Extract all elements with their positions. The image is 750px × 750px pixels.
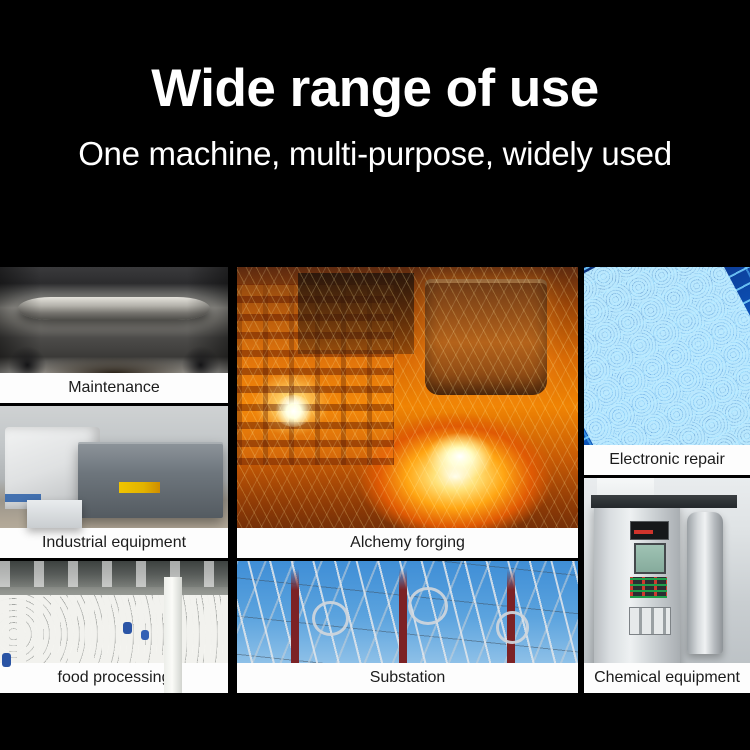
use-case-gallery: Maintenance Industrial equipment food pr…: [0, 267, 750, 693]
page-subtitle: One machine, multi-purpose, widely used: [78, 134, 672, 174]
substation-photo-detail-insulator-ring-1: [312, 601, 349, 636]
tile-caption-electronic-repair: Electronic repair: [584, 445, 750, 475]
food-photo-detail-worker-blue-1: [123, 622, 132, 634]
chemical-photo-detail-button-grid: [629, 607, 671, 635]
gallery-tile-substation[interactable]: Substation: [237, 561, 578, 693]
chemical-photo-detail-top-rail: [591, 495, 737, 508]
industrial-photo-detail-machine: [27, 500, 82, 527]
industrial-photo-detail-yellow-panel: [119, 482, 160, 493]
gallery-tile-industrial-equipment[interactable]: Industrial equipment: [0, 406, 228, 558]
food-photo-detail-worker-blue-2: [141, 630, 149, 641]
tile-caption-chemical-equipment: Chemical equipment: [584, 663, 750, 693]
chemical-photo-detail-meter: [630, 521, 669, 540]
food-photo-detail-column: [164, 577, 182, 693]
chemical-photo-detail-tank: [687, 512, 724, 654]
substation-photo-detail-insulator-ring-2: [408, 587, 448, 625]
alchemy-forging-photo: [237, 267, 578, 558]
gallery-tile-food-processing[interactable]: food processing: [0, 561, 228, 693]
electronic-repair-photo: [584, 267, 750, 475]
header-banner: Wide range of use One machine, multi-pur…: [0, 0, 750, 267]
food-photo-detail-worker-blue-3: [2, 653, 11, 666]
tile-caption-industrial-equipment: Industrial equipment: [0, 528, 228, 558]
chemical-photo-detail-screen: [634, 543, 666, 575]
tile-caption-substation: Substation: [237, 663, 578, 693]
gallery-tile-maintenance[interactable]: Maintenance: [0, 267, 228, 403]
forging-photo-detail-upper-structure: [298, 273, 414, 354]
gallery-tile-electronic-repair[interactable]: Electronic repair: [584, 267, 750, 475]
gallery-tile-alchemy-forging[interactable]: Alchemy forging: [237, 267, 578, 558]
gallery-tile-chemical-equipment[interactable]: Chemical equipment: [584, 478, 750, 693]
chemical-photo-detail-indicator-lights: [630, 577, 667, 599]
chemical-equipment-photo: [584, 478, 750, 693]
tile-caption-alchemy-forging: Alchemy forging: [237, 528, 578, 558]
forging-photo-detail-lamp-glow: [275, 395, 313, 427]
forging-photo-detail-steel-frame: [237, 284, 394, 464]
substation-photo-detail-insulator-ring-3: [496, 611, 529, 643]
tile-caption-food-processing: food processing: [0, 663, 228, 693]
tile-caption-maintenance: Maintenance: [0, 373, 228, 403]
page-title: Wide range of use: [151, 58, 599, 120]
